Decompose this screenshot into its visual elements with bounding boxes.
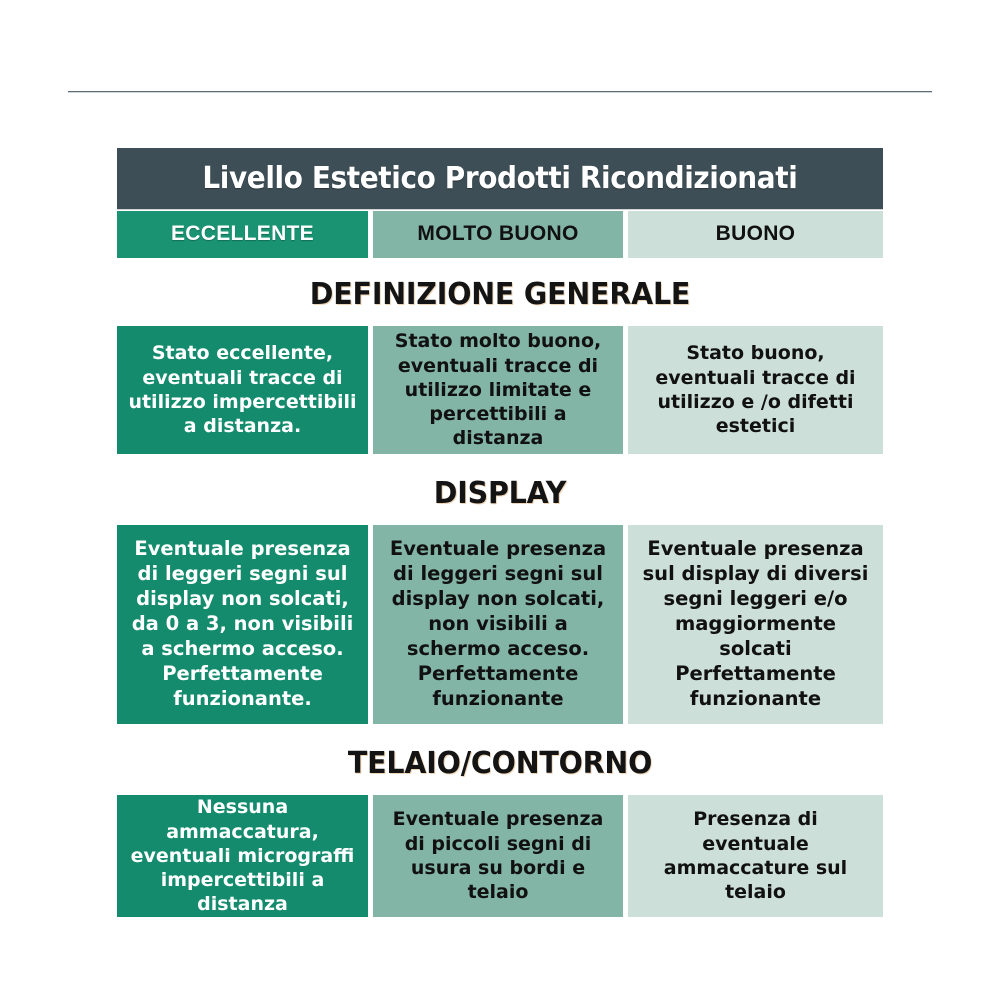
page-title: Livello Estetico Prodotti Ricondizionati — [202, 161, 797, 196]
cell-definizione-molto-buono: Stato molto buono, eventuali tracce di u… — [373, 326, 623, 454]
cell-display-molto-buono: Eventuale presenza di leggeri segni sul … — [373, 525, 623, 724]
column-header-buono[interactable]: BUONO — [628, 211, 883, 258]
page-canvas: Livello Estetico Prodotti Ricondizionati… — [0, 0, 1000, 1000]
table-title-bar: Livello Estetico Prodotti Ricondizionati — [117, 148, 883, 209]
section-row-definizione-generale: Stato eccellente, eventuali tracce di ut… — [117, 326, 883, 454]
cell-telaio-buono: Presenza di eventuale ammaccature sul te… — [628, 795, 883, 917]
cell-telaio-molto-buono: Eventuale presenza di piccoli segni di u… — [373, 795, 623, 917]
section-caption-definizione-generale: DEFINIZIONE GENERALE — [136, 277, 864, 312]
column-header-molto-buono[interactable]: MOLTO BUONO — [373, 211, 623, 258]
column-header-eccellente[interactable]: ECCELLENTE — [117, 211, 368, 258]
column-header-row: ECCELLENTE MOLTO BUONO BUONO — [117, 211, 883, 258]
section-row-telaio-contorno: Nessuna ammaccatura, eventuali micrograf… — [117, 795, 883, 917]
cell-display-buono: Eventuale presenza sul display di divers… — [628, 525, 883, 724]
grading-table: Livello Estetico Prodotti Ricondizionati… — [117, 148, 883, 917]
cell-definizione-eccellente: Stato eccellente, eventuali tracce di ut… — [117, 326, 368, 454]
cell-display-eccellente: Eventuale presenza di leggeri segni sul … — [117, 525, 368, 724]
top-divider-rule — [68, 91, 932, 93]
cell-telaio-eccellente: Nessuna ammaccatura, eventuali micrograf… — [117, 795, 368, 917]
section-row-display: Eventuale presenza di leggeri segni sul … — [117, 525, 883, 724]
section-caption-display: DISPLAY — [136, 476, 864, 511]
section-caption-telaio-contorno: TELAIO/CONTORNO — [136, 746, 864, 781]
cell-definizione-buono: Stato buono, eventuali tracce di utilizz… — [628, 326, 883, 454]
